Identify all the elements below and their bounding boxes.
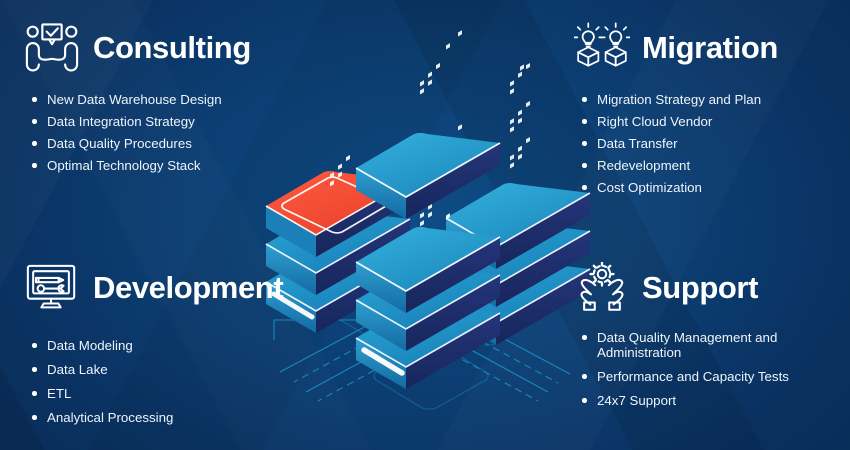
list-item: 24x7 Support [574,393,846,408]
support-header: Support [574,258,846,316]
quadrant-support: Support Data Quality Management and Admi… [574,258,846,417]
support-hands-gear-icon [574,262,630,312]
list-item: Data Transfer [574,136,846,151]
quadrant-migration: Migration Migration Strategy and Plan Ri… [574,18,846,202]
list-item: Data Modeling [24,338,324,353]
list-item: Data Integration Strategy [24,114,324,129]
list-item: Data Quality Management and Administrati… [574,330,846,360]
list-item: Data Quality Procedures [24,136,324,151]
page-title-development: Development [93,272,283,303]
development-monitor-tools-icon [24,262,80,312]
infographic-canvas: Consulting New Data Warehouse Design Dat… [0,0,850,450]
consulting-header: Consulting [24,18,324,76]
migration-header: Migration [574,18,846,76]
list-item: Migration Strategy and Plan [574,92,846,107]
support-bullet-list: Data Quality Management and Administrati… [574,330,846,408]
migration-bullet-list: Migration Strategy and Plan Right Cloud … [574,92,846,195]
list-item: Redevelopment [574,158,846,173]
list-item: Analytical Processing [24,410,324,425]
consulting-people-chat-icon [24,22,80,72]
list-item: Optimal Technology Stack [24,158,324,173]
list-item: Data Lake [24,362,324,377]
development-bullet-list: Data Modeling Data Lake ETL Analytical P… [24,338,324,425]
list-item: New Data Warehouse Design [24,92,324,107]
server-unit-center-crown [356,30,500,219]
list-item: Performance and Capacity Tests [574,369,846,384]
quadrant-development: Development Data Modeling Data Lake ETL … [24,258,324,434]
list-item: Right Cloud Vendor [574,114,846,129]
page-title-support: Support [642,272,758,303]
development-header: Development [24,258,324,316]
page-title-migration: Migration [642,32,778,63]
list-item: Cost Optimization [574,180,846,195]
quadrant-consulting: Consulting New Data Warehouse Design Dat… [24,18,324,180]
consulting-bullet-list: New Data Warehouse Design Data Integrati… [24,92,324,173]
migration-lightbulb-boxes-icon [574,22,630,72]
page-title-consulting: Consulting [93,32,251,63]
list-item: ETL [24,386,324,401]
